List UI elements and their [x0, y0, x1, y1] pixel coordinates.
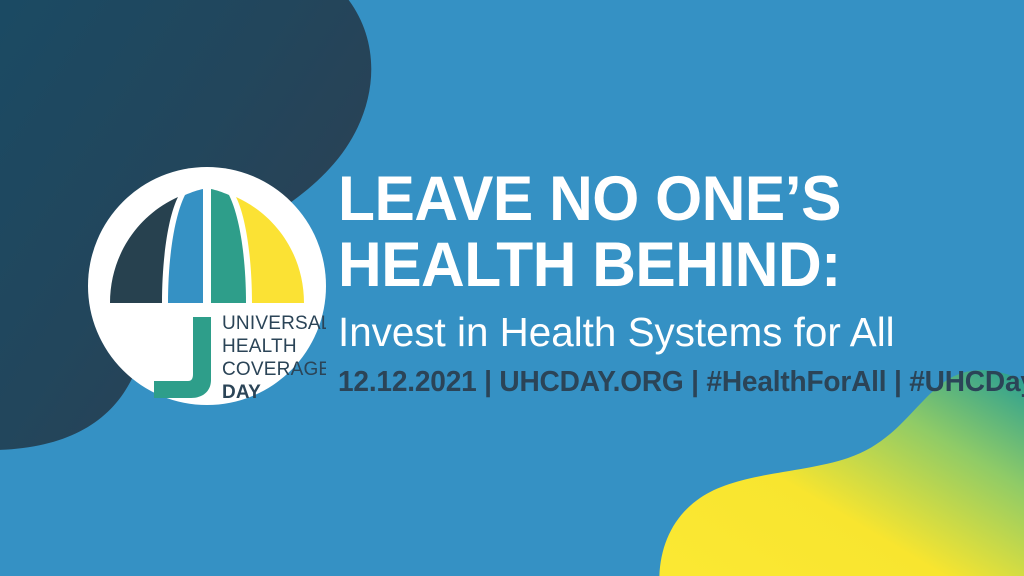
text-content-block: LEAVE NO ONE’S HEALTH BEHIND: Invest in …	[338, 160, 998, 399]
uhc-day-logo: UNIVERSAL HEALTH COVERAGE DAY	[88, 167, 326, 405]
wordmark-line-3: COVERAGE	[222, 359, 326, 380]
poster-canvas: UNIVERSAL HEALTH COVERAGE DAY LEAVE NO O…	[0, 0, 1024, 576]
headline-line-1: LEAVE NO ONE’S	[338, 160, 972, 232]
wordmark-line-1: UNIVERSAL	[222, 313, 326, 334]
tagline: 12.12.2021 | UHCDAY.ORG | #HealthForAll …	[338, 365, 988, 399]
headline-line-2: HEALTH BEHIND:	[338, 232, 972, 298]
wordmark-line-2: HEALTH	[222, 336, 297, 357]
subheadline: Invest in Health Systems for All	[338, 307, 988, 357]
wordmark-line-day: DAY	[222, 382, 261, 403]
uhc-day-logo-mark: UNIVERSAL HEALTH COVERAGE DAY	[88, 167, 326, 405]
